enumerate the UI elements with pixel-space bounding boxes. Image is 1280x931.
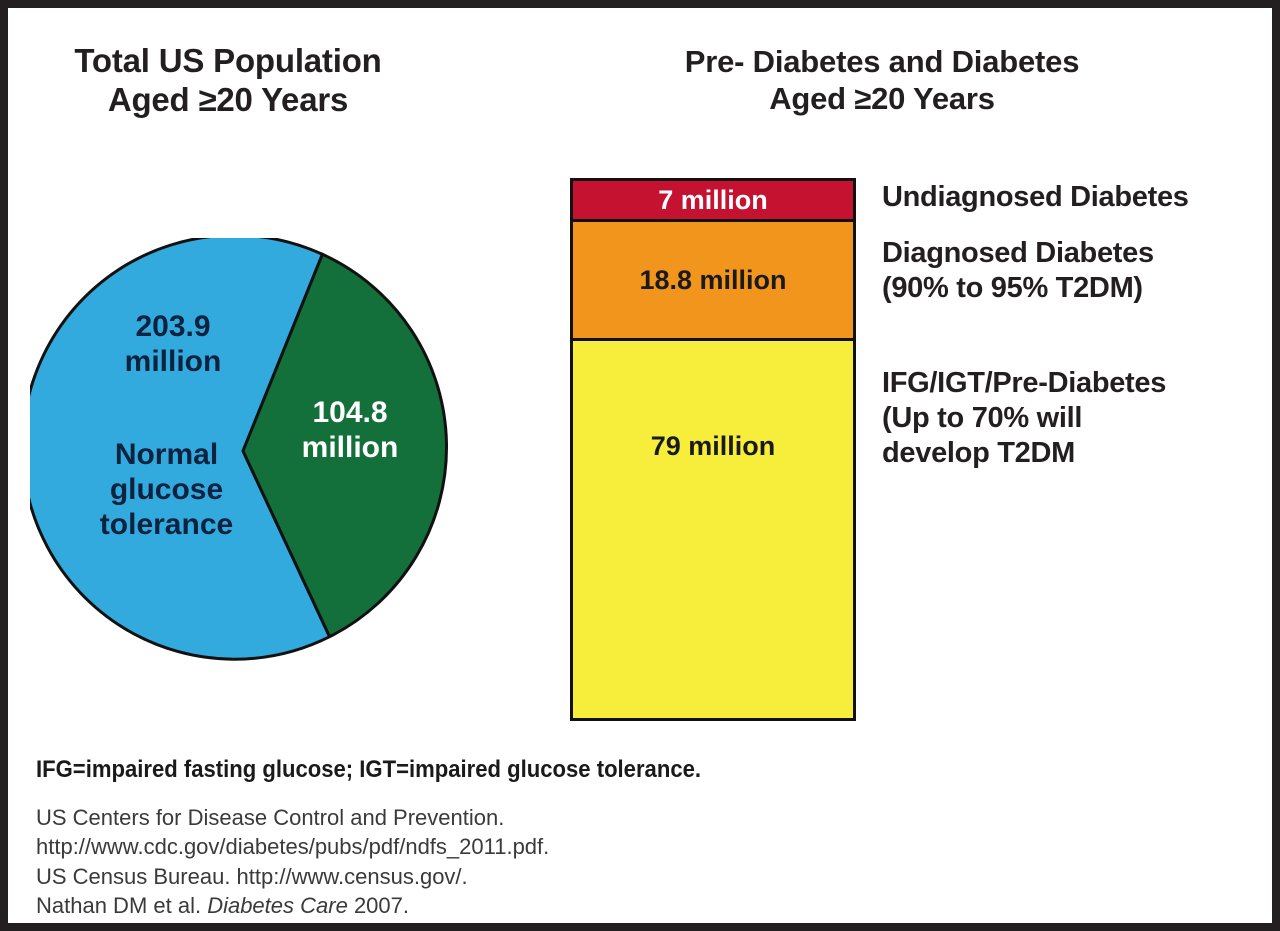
source-line-4-suffix: 2007. (348, 893, 409, 918)
prediabetes-stacked-bar: 7 million 18.8 million 79 million (570, 178, 856, 721)
figure-canvas: Total US Population Aged ≥20 Years Pre- … (0, 0, 1280, 931)
source-line-4-journal: Diabetes Care (207, 893, 348, 918)
legend-prediabetes-line3: develop T2DM (882, 436, 1280, 471)
bar-segment-prediabetes-label: 79 million (651, 431, 776, 462)
legend-undiagnosed-diabetes: Undiagnosed Diabetes (882, 180, 1280, 215)
source-line-4-prefix: Nathan DM et al. (36, 893, 207, 918)
legend-diagnosed-line1: Diagnosed Diabetes (882, 236, 1280, 271)
right-chart-title-line1: Pre- Diabetes and Diabetes (685, 44, 1080, 79)
right-chart-title: Pre- Diabetes and Diabetes Aged ≥20 Year… (593, 44, 1171, 117)
source-line-3: US Census Bureau. http://www.census.gov/… (36, 862, 936, 891)
legend-prediabetes: IFG/IGT/Pre-Diabetes (Up to 70% will dev… (882, 366, 1280, 470)
left-chart-title: Total US Population Aged ≥20 Years (18, 42, 438, 120)
bar-segment-prediabetes: 79 million (573, 341, 853, 718)
right-chart-title-line2: Aged ≥20 Years (593, 81, 1171, 118)
pie-svg (30, 238, 456, 664)
source-citations: US Centers for Disease Control and Preve… (36, 803, 936, 921)
legend-prediabetes-line1: IFG/IGT/Pre-Diabetes (882, 366, 1280, 401)
left-chart-title-line1: Total US Population (74, 42, 381, 79)
bar-segment-diagnosed-label: 18.8 million (639, 265, 786, 296)
bar-segment-undiagnosed-label: 7 million (658, 185, 768, 216)
bar-segment-undiagnosed-diabetes: 7 million (573, 181, 853, 222)
abbreviations-footnote: IFG=impaired fasting glucose; IGT=impair… (36, 756, 919, 784)
legend-diagnosed-diabetes: Diagnosed Diabetes (90% to 95% T2DM) (882, 236, 1280, 306)
legend-prediabetes-line2: (Up to 70% will (882, 401, 1280, 436)
legend-undiagnosed-line1: Undiagnosed Diabetes (882, 180, 1280, 215)
bar-segment-diagnosed-diabetes: 18.8 million (573, 222, 853, 341)
population-pie-chart: 203.9 million Normal glucose tolerance 1… (30, 238, 456, 664)
source-line-4: Nathan DM et al. Diabetes Care 2007. (36, 891, 936, 920)
legend-diagnosed-line2: (90% to 95% T2DM) (882, 271, 1280, 306)
source-line-1: US Centers for Disease Control and Preve… (36, 803, 936, 832)
source-line-2: http://www.cdc.gov/diabetes/pubs/pdf/ndf… (36, 832, 936, 861)
left-chart-title-line2: Aged ≥20 Years (18, 81, 438, 120)
